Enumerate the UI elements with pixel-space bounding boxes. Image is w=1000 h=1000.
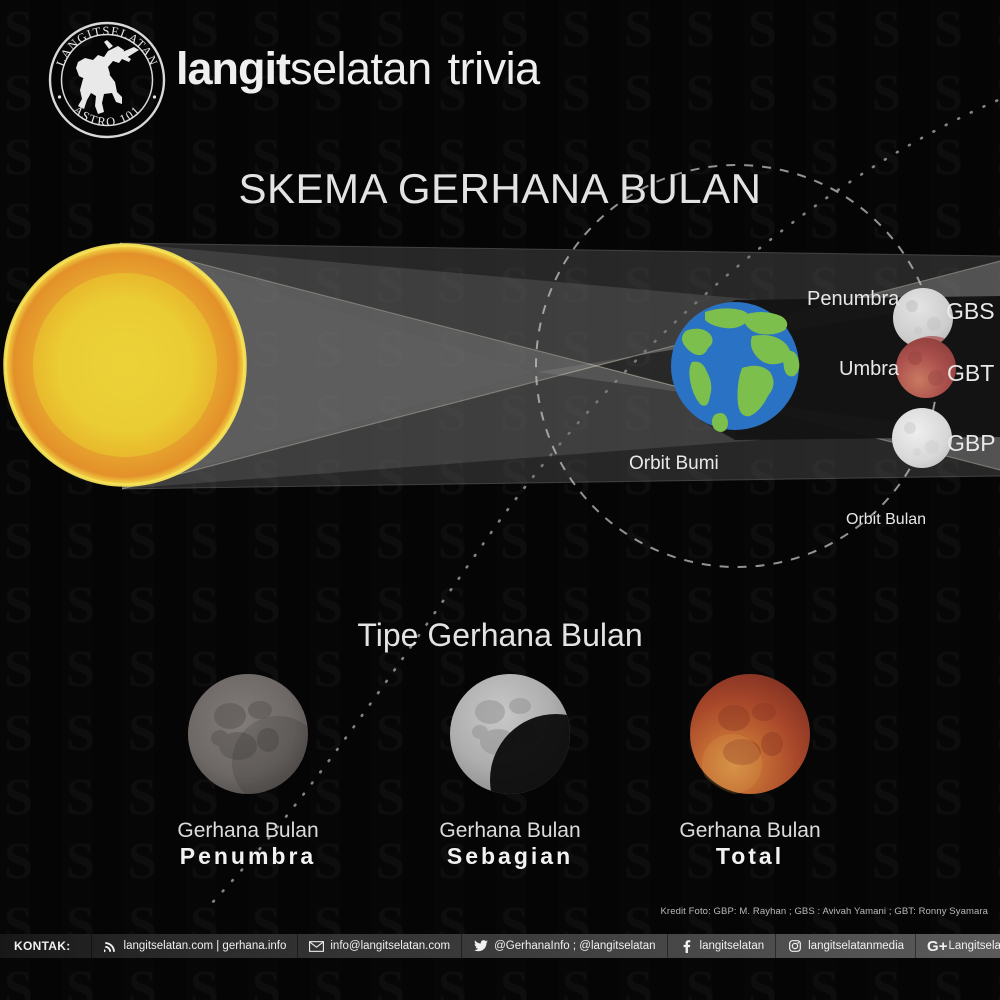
envelope-icon bbox=[309, 939, 324, 953]
footer-item-website[interactable]: langitselatan.com | gerhana.info bbox=[91, 934, 298, 958]
footer-item-facebook[interactable]: langitselatan bbox=[667, 934, 776, 958]
googleplus-icon: G+ bbox=[927, 939, 947, 954]
footer-item-text: @GerhanaInfo ; @langitselatan bbox=[494, 940, 655, 952]
label-umbra: Umbra bbox=[839, 358, 899, 381]
label-gbp: GBP bbox=[947, 430, 996, 457]
type-label-line1: Gerhana Bulan bbox=[380, 819, 640, 843]
moon-partial-photo bbox=[448, 672, 572, 796]
eclipse-type-partial: Gerhana Bulan Sebagian bbox=[380, 672, 640, 869]
types-section-title: Tipe Gerhana Bulan bbox=[0, 617, 1000, 654]
instagram-icon bbox=[787, 939, 802, 953]
footer-item-instagram[interactable]: langitselatanmedia bbox=[775, 934, 915, 958]
moon-total-photo bbox=[688, 672, 812, 796]
label-gbs: GBS bbox=[946, 298, 995, 325]
type-label-line2: Total bbox=[620, 843, 880, 869]
photo-credit: Kredit Foto: GBP: M. Rayhan ; GBS : Aviv… bbox=[661, 906, 989, 917]
footer-item-text: langitselatan.com | gerhana.info bbox=[124, 940, 287, 952]
sun-body bbox=[5, 245, 245, 485]
footer-item-twitter[interactable]: @GerhanaInfo ; @langitselatan bbox=[461, 934, 666, 958]
eclipse-type-total: Gerhana Bulan Total bbox=[620, 672, 880, 869]
label-orbit-bumi: Orbit Bumi bbox=[629, 453, 719, 475]
facebook-icon bbox=[679, 939, 694, 953]
footer-item-text: langitselatanmedia bbox=[808, 940, 904, 952]
moon-penumbral-photo bbox=[186, 672, 310, 796]
infographic-canvas: S LANGITSELATAN ASTRO 101 bbox=[0, 0, 1000, 1000]
type-label-line2: Sebagian bbox=[380, 843, 640, 869]
footer-item-googleplus[interactable]: G+ LangitselatanMedia bbox=[915, 934, 1000, 958]
moon-gbp-body bbox=[892, 408, 952, 468]
footer-kontak-label: KONTAK: bbox=[0, 934, 91, 958]
contact-footer: KONTAK: langitselatan.com | gerhana.info… bbox=[0, 934, 1000, 958]
footer-item-text: LangitselatanMedia bbox=[948, 940, 1000, 952]
type-label-line2: Penumbra bbox=[118, 843, 378, 869]
twitter-icon bbox=[473, 939, 488, 953]
eclipse-type-penumbral: Gerhana Bulan Penumbra bbox=[118, 672, 378, 869]
label-orbit-bulan: Orbit Bulan bbox=[846, 511, 926, 529]
label-gbt: GBT bbox=[947, 360, 994, 387]
rss-icon bbox=[103, 939, 118, 953]
label-penumbra: Penumbra bbox=[807, 288, 899, 311]
footer-item-text: langitselatan bbox=[700, 940, 765, 952]
footer-item-text: info@langitselatan.com bbox=[330, 940, 450, 952]
footer-item-email[interactable]: info@langitselatan.com bbox=[297, 934, 461, 958]
type-label-line1: Gerhana Bulan bbox=[118, 819, 378, 843]
type-label-line1: Gerhana Bulan bbox=[620, 819, 880, 843]
